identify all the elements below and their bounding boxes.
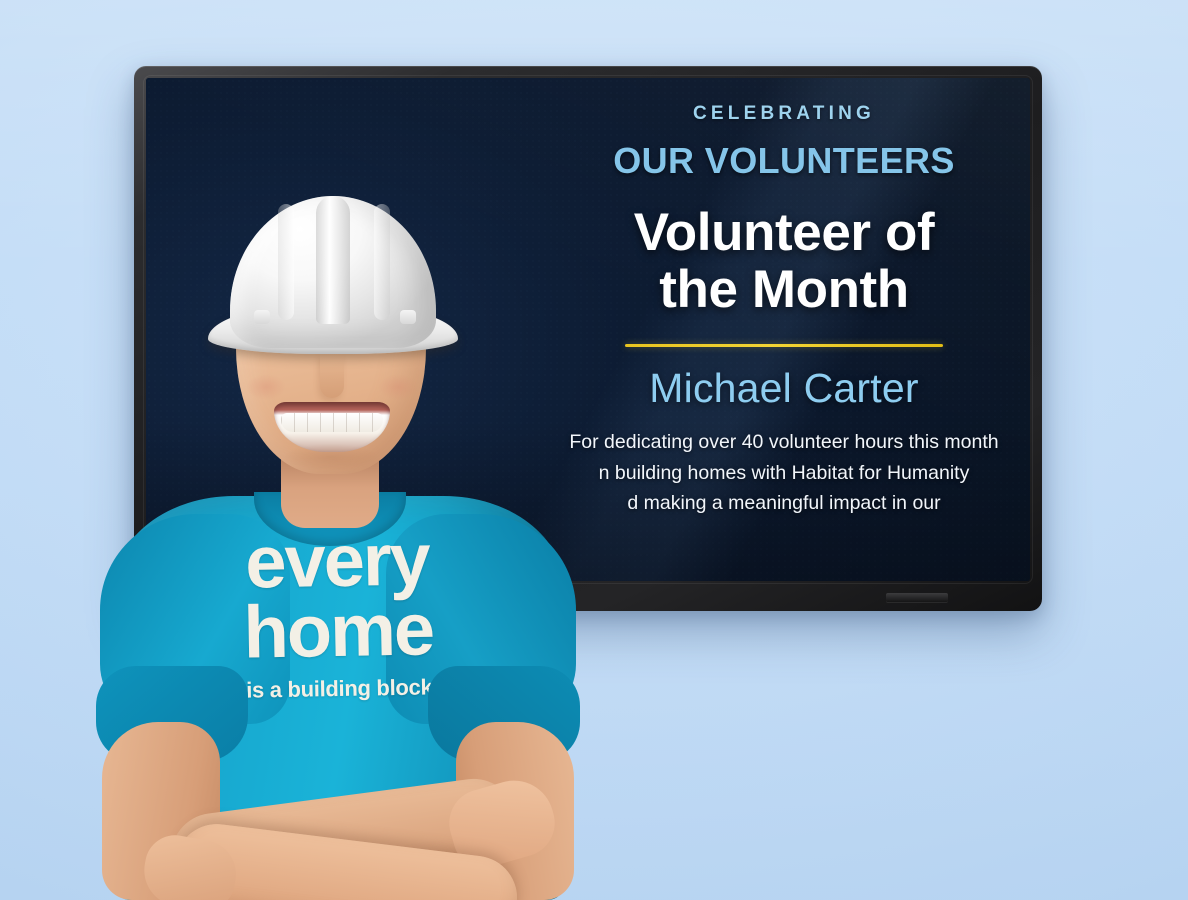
slide-title-line-2: the Month — [544, 262, 1024, 319]
slide-body-line-2: n building homes with Habitat for Humani… — [544, 458, 1024, 488]
person-chin-shadow — [284, 444, 378, 470]
slide-body-line-3: d making a meaningful impact in our — [544, 488, 1024, 518]
hard-hat-ridge-center — [316, 196, 350, 324]
hard-hat-ridge-left — [278, 204, 294, 320]
shirt-text-line-2: home — [188, 594, 489, 670]
slide-body-line-1: For dedicating over 40 volunteer hours t… — [544, 427, 1024, 457]
hard-hat-clip-left — [254, 310, 270, 324]
slide-kicker: OUR VOLUNTEERS — [544, 143, 1024, 179]
slide-title-line-1: Volunteer of — [544, 205, 1024, 262]
tv-brand-bump — [886, 593, 948, 602]
slide-eyebrow: CELEBRATING — [544, 104, 1024, 123]
hard-hat-ridge-right — [374, 204, 390, 320]
hard-hat-clip-right — [400, 310, 416, 324]
slide-content: CELEBRATING OUR VOLUNTEERS Volunteer of … — [544, 104, 1024, 518]
person-nose — [320, 354, 344, 398]
slide-body-text: For dedicating over 40 volunteer hours t… — [544, 427, 1024, 518]
slide-title: Volunteer of the Month — [544, 205, 1024, 318]
person-cheek-right — [378, 374, 418, 400]
honoree-name: Michael Carter — [544, 367, 1024, 410]
slide-divider-rule — [625, 344, 943, 347]
volunteer-person: every home is a building block — [78, 96, 598, 900]
person-cheek-left — [246, 374, 286, 400]
person-teeth-gaps — [281, 413, 383, 432]
shirt-text-line-1: every — [186, 523, 487, 599]
